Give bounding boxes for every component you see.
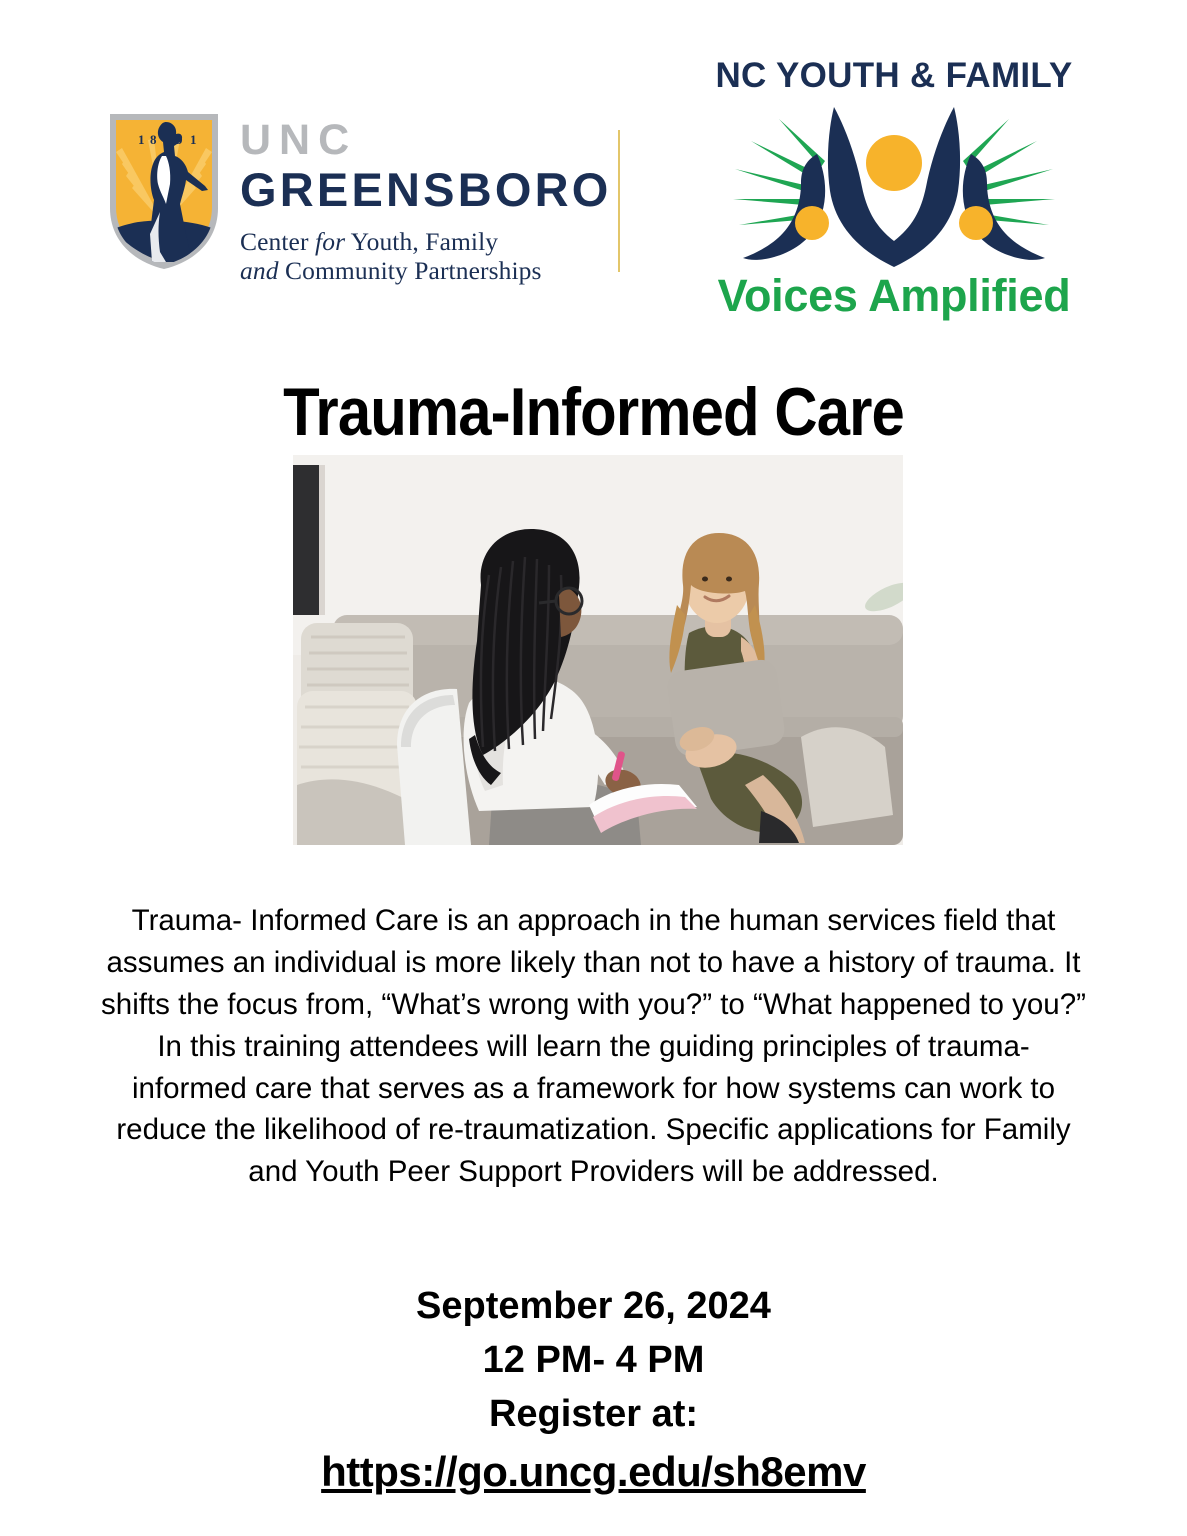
- subtitle-youth-family-word: Youth, Family: [345, 227, 498, 256]
- description-paragraph-2: In this training attendees will learn th…: [100, 1026, 1087, 1194]
- subtitle-and-word: and: [240, 256, 279, 285]
- register-label: Register at:: [0, 1388, 1187, 1442]
- uncg-center-subtitle: Center for Youth, Family and Community P…: [240, 227, 612, 286]
- three-figures-raised-arms-icon: [729, 101, 1059, 269]
- subtitle-for-word: for: [315, 227, 345, 256]
- event-details: September 26, 2024 12 PM- 4 PM Register …: [0, 1280, 1187, 1501]
- counseling-session-photo: [293, 455, 903, 845]
- event-date: September 26, 2024: [0, 1280, 1187, 1334]
- counseling-session-photo-image: [293, 455, 903, 845]
- svg-text:8: 8: [150, 132, 157, 147]
- description-paragraph-1: Trauma- Informed Care is an approach in …: [100, 900, 1087, 1026]
- header-logo-band: 1 8 9 1 UNC GREENSBORO Center for Youth,…: [0, 0, 1187, 350]
- voices-amplified-tagline: Voices Amplified: [688, 273, 1100, 318]
- svg-text:9: 9: [176, 132, 183, 147]
- description-text: Trauma- Informed Care is an approach in …: [100, 900, 1087, 1193]
- nc-youth-family-title: NC YOUTH & FAMILY: [688, 58, 1100, 93]
- subtitle-center-word: Center: [240, 227, 315, 256]
- svg-text:1: 1: [138, 132, 146, 147]
- event-time: 12 PM- 4 PM: [0, 1334, 1187, 1388]
- logo-divider: [618, 130, 620, 272]
- uncg-center-subtitle-line2: and Community Partnerships: [240, 256, 612, 286]
- uncg-logo-lockup: 1 8 9 1 UNC GREENSBORO Center for Youth,…: [108, 112, 612, 286]
- svg-text:1: 1: [190, 132, 197, 147]
- page-title: Trauma-Informed Care: [71, 378, 1116, 446]
- uncg-center-subtitle-line1: Center for Youth, Family: [240, 227, 612, 257]
- uncg-minerva-shield-icon: 1 8 9 1: [108, 112, 220, 270]
- uncg-wordmark-greensboro: GREENSBORO: [240, 166, 612, 214]
- nc-youth-family-logo-lockup: NC YOUTH & FAMILY: [688, 58, 1100, 318]
- uncg-wordmark-unc: UNC: [240, 120, 612, 161]
- uncg-wordmark: UNC GREENSBORO Center for Youth, Family …: [240, 112, 612, 286]
- subtitle-community-partnerships-word: Community Partnerships: [279, 256, 542, 285]
- registration-link[interactable]: https://go.uncg.edu/sh8emv: [0, 1442, 1187, 1502]
